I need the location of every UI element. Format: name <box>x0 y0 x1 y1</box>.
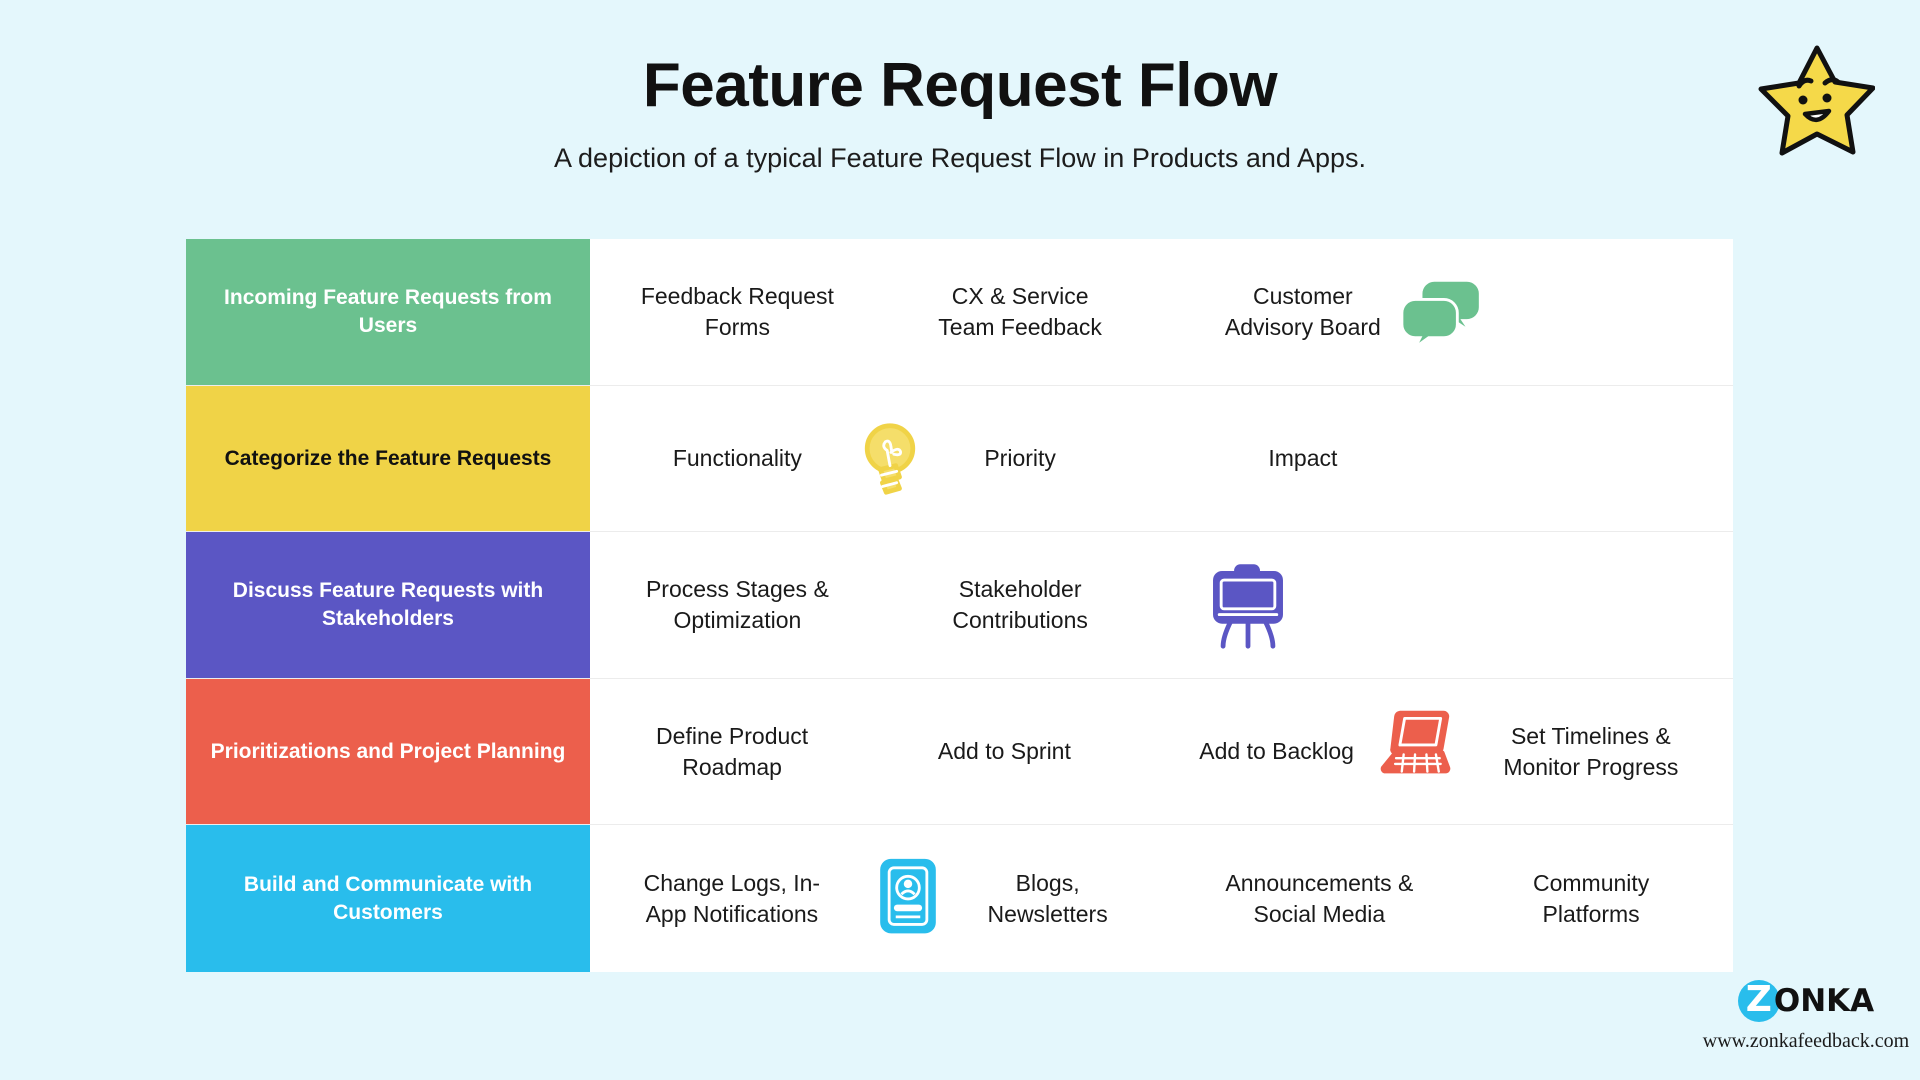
stage-label: Build and Communicate with Customers <box>210 871 566 926</box>
laptop-icon <box>1375 707 1457 781</box>
speech-bubbles-icon <box>1400 267 1486 353</box>
list-item: Process Stages & Optimization <box>596 574 879 635</box>
infographic-page: Feature Request Flow A depiction of a ty… <box>0 0 1920 1080</box>
list-item: Impact <box>1162 443 1445 474</box>
stage-cell-categorize-feature-requests: Categorize the Feature Requests <box>186 386 590 532</box>
list-item: Stakeholder Contributions <box>879 574 1162 635</box>
brand-footer: Z ONKA www.zonkafeedback.com <box>1700 978 1912 1053</box>
table-row: Incoming Feature Requests from Users Fee… <box>186 239 1733 386</box>
list-item: Community Platforms <box>1455 868 1727 929</box>
page-subtitle: A depiction of a typical Feature Request… <box>0 143 1920 174</box>
row-items: Process Stages & Optimization Stakeholde… <box>590 532 1733 678</box>
list-item: Announcements & Social Media <box>1184 868 1456 929</box>
id-card-icon <box>875 855 941 941</box>
table-row: Discuss Feature Requests with Stakeholde… <box>186 532 1733 679</box>
logo-wordmark: ONKA <box>1774 983 1874 1019</box>
row-items: Feedback Request Forms CX & Service Team… <box>590 239 1733 385</box>
lightbulb-icon <box>852 416 928 502</box>
stage-cell-build-and-communicate: Build and Communicate with Customers <box>186 825 590 972</box>
row-items: Functionality Priority Impact <box>590 386 1733 532</box>
table-row: Prioritizations and Project Planning Def… <box>186 679 1733 826</box>
site-url: www.zonkafeedback.com <box>1700 1030 1912 1053</box>
page-title: Feature Request Flow <box>0 50 1920 121</box>
logo-mark: Z <box>1746 982 1772 1018</box>
row-items: Change Logs, In- App Notifications Blogs… <box>590 825 1733 972</box>
table-row: Build and Communicate with Customers Cha… <box>186 825 1733 972</box>
feature-request-flow-table: Incoming Feature Requests from Users Fee… <box>186 239 1733 972</box>
list-item: Functionality <box>596 443 879 474</box>
zonka-logo: Z ONKA <box>1700 978 1912 1024</box>
list-item: Change Logs, In- App Notifications <box>596 868 868 929</box>
stage-label: Categorize the Feature Requests <box>225 445 552 473</box>
stage-cell-incoming-feature-requests: Incoming Feature Requests from Users <box>186 239 590 385</box>
presentation-easel-icon <box>1202 557 1294 653</box>
stage-cell-discuss-with-stakeholders: Discuss Feature Requests with Stakeholde… <box>186 532 590 678</box>
stage-label: Incoming Feature Requests from Users <box>210 284 566 339</box>
list-item: CX & Service Team Feedback <box>879 281 1162 342</box>
stage-label: Discuss Feature Requests with Stakeholde… <box>210 577 566 632</box>
list-item: Feedback Request Forms <box>596 281 879 342</box>
table-row: Categorize the Feature Requests Function… <box>186 386 1733 533</box>
list-item: Set Timelines & Monitor Progress <box>1413 721 1727 782</box>
row-items: Define Product Roadmap Add to Sprint Add… <box>590 679 1733 825</box>
page-header: Feature Request Flow A depiction of a ty… <box>0 50 1920 174</box>
stage-cell-prioritizations-project-planning: Prioritizations and Project Planning <box>186 679 590 825</box>
list-item: Define Product Roadmap <box>596 721 868 782</box>
list-item: Add to Sprint <box>868 736 1140 767</box>
list-item: Add to Backlog <box>1141 736 1413 767</box>
stage-label: Prioritizations and Project Planning <box>211 738 566 766</box>
